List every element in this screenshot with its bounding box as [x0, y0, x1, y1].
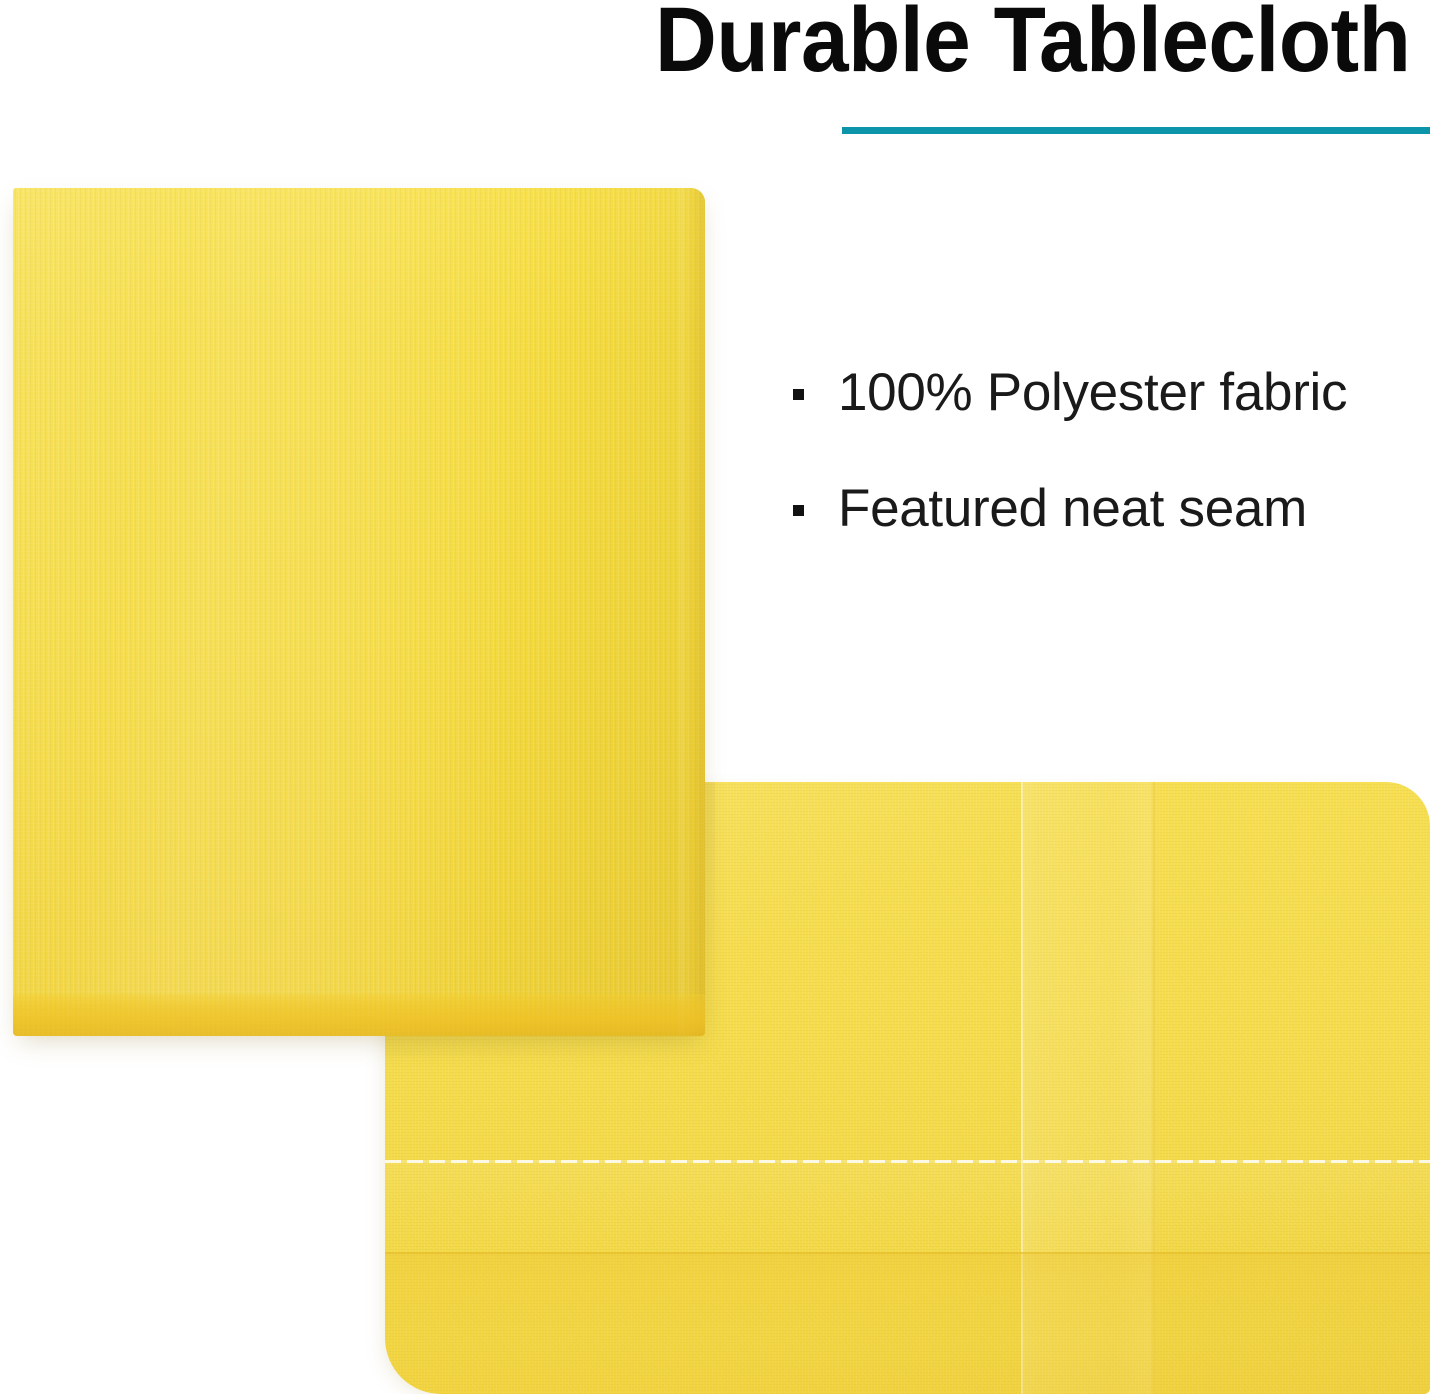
fabric-rib-texture — [13, 188, 705, 1036]
vertical-fold-line — [1153, 782, 1155, 1394]
horizontal-stitch-line — [385, 1160, 1430, 1163]
page-title: Durable Tablecloth — [655, 0, 1390, 86]
list-item: 100% Polyester fabric — [790, 355, 1410, 471]
square-bullet-icon — [793, 389, 804, 400]
folded-tablecloth-stack-photo — [13, 188, 705, 1036]
vertical-stitch-line — [1021, 782, 1023, 1394]
list-item: Featured neat seam — [790, 471, 1410, 587]
lower-fold-band — [385, 1252, 1430, 1394]
title-divider-rule — [842, 127, 1430, 134]
feature-label: Featured neat seam — [838, 479, 1307, 538]
feature-list: 100% Polyester fabric Featured neat seam — [790, 355, 1410, 587]
fabric-sheen — [13, 188, 705, 1036]
feature-label: 100% Polyester fabric — [838, 363, 1347, 422]
vertical-hem-band — [1021, 782, 1155, 1394]
right-rolled-edge — [679, 188, 705, 1036]
product-feature-image: Durable Tablecloth 100% Polyester fabric… — [0, 0, 1430, 1394]
square-bullet-icon — [793, 505, 804, 516]
lower-fold-line — [385, 1252, 1430, 1254]
horizontal-hem-band — [385, 1163, 1430, 1251]
bottom-rolled-fold — [13, 994, 705, 1036]
